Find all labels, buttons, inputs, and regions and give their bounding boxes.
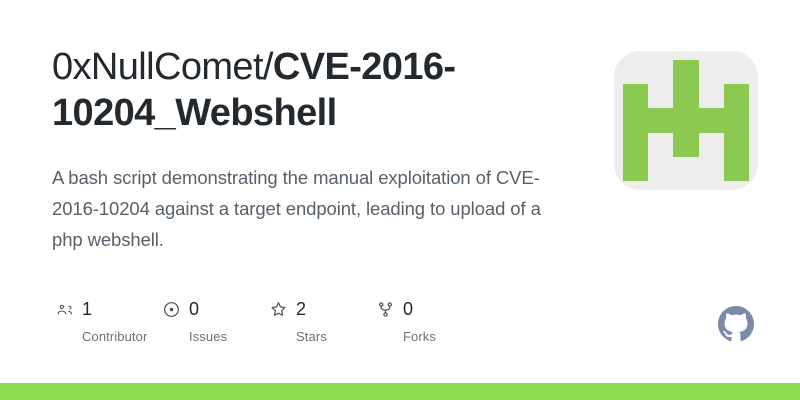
stat-forks-value-row: 0 [373, 298, 413, 320]
repository-description: A bash script demonstrating the manual e… [52, 162, 542, 255]
repository-social-preview-card: 0xNullComet/CVE-2016-10204_Webshell A ba… [0, 0, 800, 400]
identicon-cell-0-1 [648, 60, 673, 84]
github-logo-icon [718, 306, 754, 342]
stat-forks-label: Forks [403, 329, 436, 345]
identicon-cell-4-1 [648, 157, 673, 181]
stat-contributors-value: 1 [82, 299, 92, 319]
stat-contributors: 1 Contributor [52, 298, 159, 345]
bottom-accent-bar [0, 383, 800, 400]
identicon-avatar [614, 51, 758, 190]
repository-info: 0xNullComet/CVE-2016-10204_Webshell A ba… [52, 44, 597, 255]
stat-forks: 0 Forks [373, 298, 480, 345]
identicon-cell-2-1 [648, 108, 673, 132]
identicon-cell-2-2 [673, 108, 698, 132]
identicon-cell-0-2 [673, 60, 698, 84]
repository-owner: 0xNullComet/ [52, 46, 273, 88]
identicon-cell-4-3 [699, 157, 724, 181]
stat-contributors-label: Contributor [82, 329, 147, 345]
stat-issues-value-row: 0 [159, 298, 199, 320]
stat-stars-label: Stars [296, 329, 327, 345]
stat-contributors-value-row: 1 [52, 298, 92, 320]
identicon-cell-2-3 [699, 108, 724, 132]
identicon-cell-1-4 [724, 84, 749, 108]
identicon-cell-2-4 [724, 108, 749, 132]
repository-stats: 1 Contributor 0 Issues [52, 298, 480, 345]
page-title: 0xNullComet/CVE-2016-10204_Webshell [52, 44, 597, 136]
stat-issues: 0 Issues [159, 298, 266, 345]
stat-forks-value: 0 [403, 299, 413, 319]
identicon-cell-3-4 [724, 133, 749, 157]
identicon-cell-4-0 [623, 157, 648, 181]
identicon-cell-3-2 [673, 133, 698, 157]
identicon-cell-1-0 [623, 84, 648, 108]
people-icon [56, 301, 73, 318]
identicon-cell-1-2 [673, 84, 698, 108]
repo-forked-icon [377, 301, 394, 318]
issue-opened-icon [163, 301, 180, 318]
identicon-cell-4-2 [673, 157, 698, 181]
identicon-cell-0-4 [724, 60, 749, 84]
identicon-cell-3-3 [699, 133, 724, 157]
identicon-cell-1-1 [648, 84, 673, 108]
identicon-cell-2-0 [623, 108, 648, 132]
identicon-grid [623, 60, 749, 181]
stat-issues-value: 0 [189, 299, 199, 319]
star-icon [270, 301, 287, 318]
stat-stars-value-row: 2 [266, 298, 306, 320]
identicon-cell-3-1 [648, 133, 673, 157]
stat-stars: 2 Stars [266, 298, 373, 345]
identicon-cell-4-4 [724, 157, 749, 181]
identicon-cell-3-0 [623, 133, 648, 157]
identicon-cell-0-3 [699, 60, 724, 84]
stat-stars-value: 2 [296, 299, 306, 319]
identicon-cell-0-0 [623, 60, 648, 84]
stat-issues-label: Issues [189, 329, 227, 345]
identicon-cell-1-3 [699, 84, 724, 108]
